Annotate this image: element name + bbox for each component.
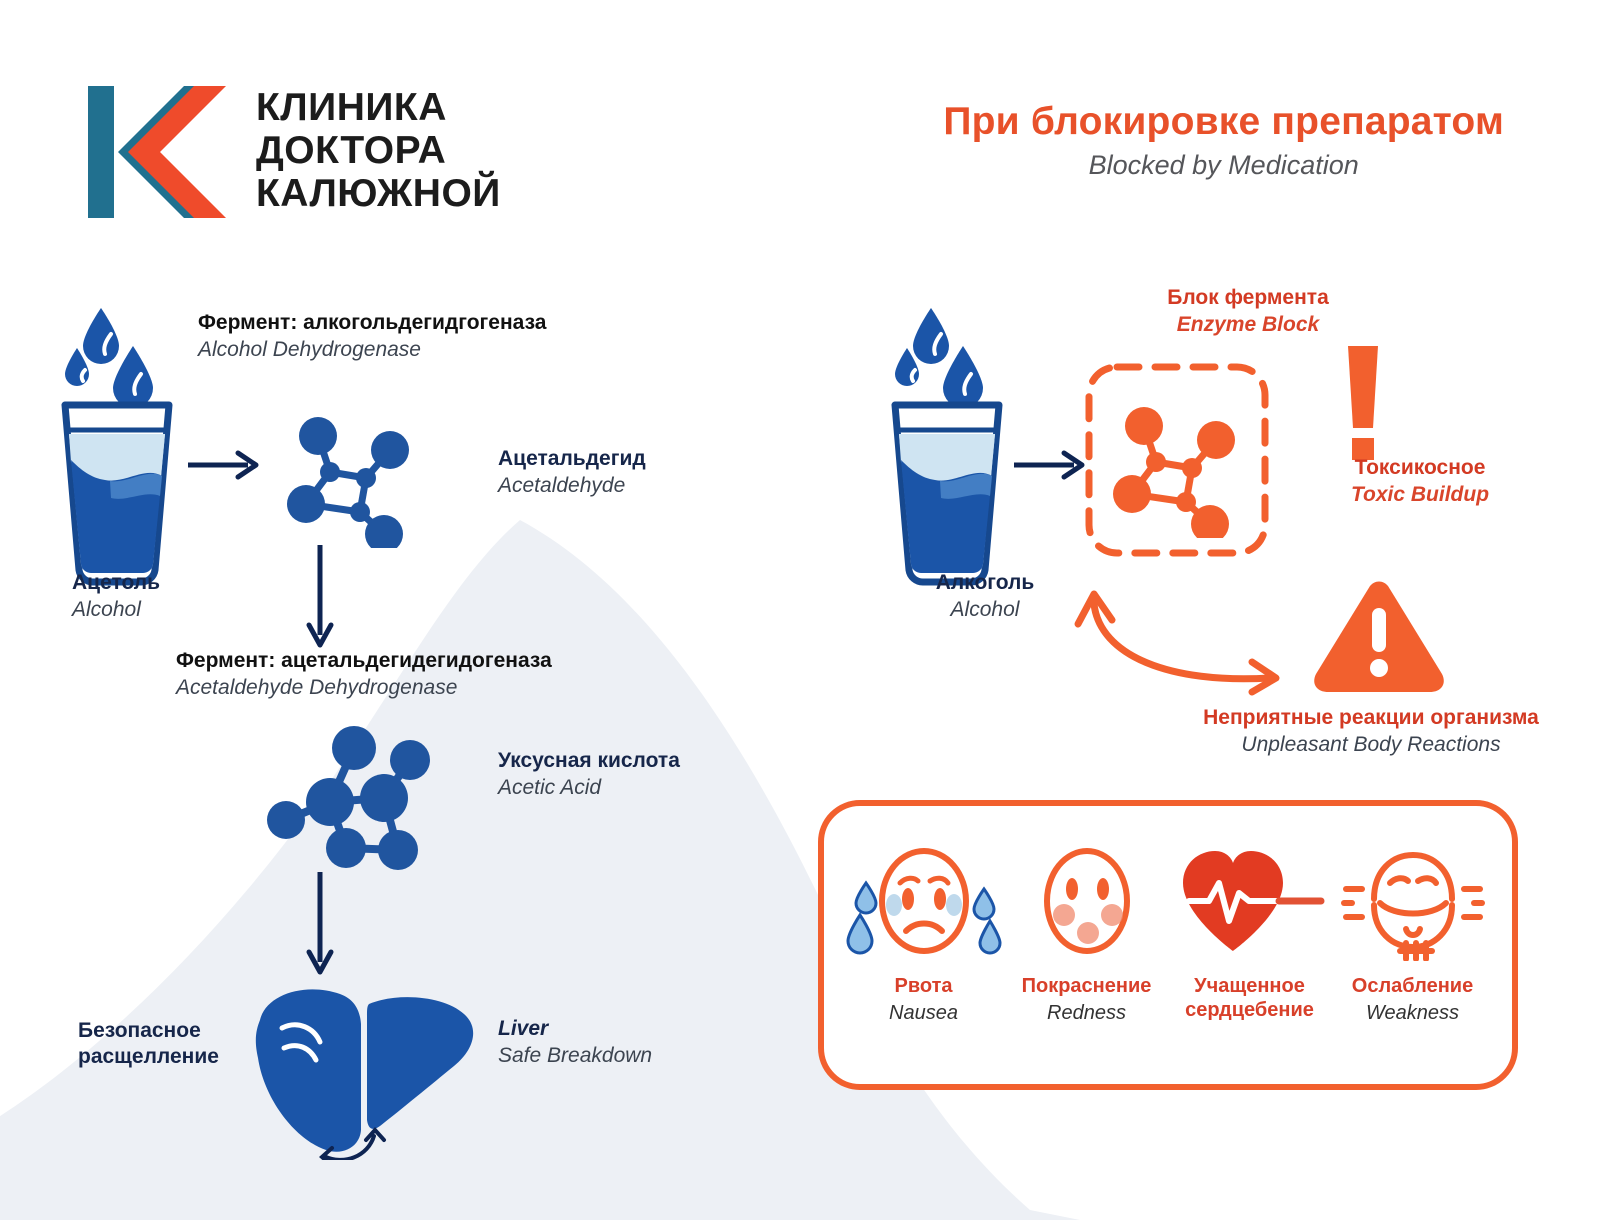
enzyme-2-label-en: Acetaldehyde Dehydrogenase [176, 674, 552, 701]
arrow-down-icon-2 [300, 872, 340, 982]
unpleasant-reactions-label-en: Unpleasant Body Reactions [1186, 731, 1556, 758]
flushed-face-icon [1007, 842, 1167, 962]
enzyme-2-label-ru: Фермент: ацетальдегидегидогеназа [176, 648, 552, 674]
unpleasant-reactions-label-ru: Неприятные реакции организма [1186, 705, 1556, 731]
curved-double-arrow-icon [1060, 568, 1300, 698]
alcohol-label-right-ru: Алкоголь [890, 570, 1080, 596]
safe-breakdown-label-en: Safe Breakdown [498, 1042, 652, 1069]
toxic-buildup-label-ru: Токсикосное [1300, 455, 1540, 481]
symptom-label-ru-2: Учащенное сердцебение [1170, 974, 1330, 1022]
liver-label: Liver Safe Breakdown [498, 1015, 652, 1070]
arrow-down-icon-1 [300, 545, 340, 655]
alcohol-label-right-en: Alcohol [890, 596, 1080, 623]
logo-wordmark: КЛИНИКА ДОКТОРА КАЛЮЖНОЙ [256, 88, 501, 217]
arrow-right-icon-1 [186, 445, 266, 485]
alcohol-label-left: Ацетоль Alcohol [72, 570, 160, 624]
alcohol-glass-icon-right [885, 300, 1010, 600]
alcohol-label-left-en: Alcohol [72, 596, 160, 623]
page-title-ru: При блокировке препаратом [943, 100, 1504, 144]
acetic-acid-label: Уксусная кислота Acetic Acid [498, 748, 680, 802]
liver-label-en: Liver [498, 1015, 652, 1042]
acetaldehyde-molecule-icon [278, 408, 418, 548]
symptom-item-redness: Покраснение Redness [1007, 842, 1167, 1025]
acetic-acid-molecule-icon [258, 722, 438, 872]
warning-triangle-icon [1310, 578, 1448, 698]
exclamation-mark-icon [1332, 344, 1392, 464]
toxic-buildup-label: Токсикосное Toxic Buildup [1300, 455, 1540, 509]
acetic-acid-label-en: Acetic Acid [498, 774, 680, 801]
arrow-right-icon-2 [1012, 445, 1092, 485]
unpleasant-reactions-label: Неприятные реакции организма Unpleasant … [1186, 705, 1556, 759]
symptom-label-en-1: Redness [1007, 1002, 1167, 1025]
enzyme-1-label-en: Alcohol Dehydrogenase [198, 336, 546, 363]
symptom-item-tachycardia: Учащенное сердцебение [1170, 842, 1330, 1026]
enzyme-2-label: Фермент: ацетальдегидегидогеназа Acetald… [176, 648, 552, 702]
enzyme-block-label: Блок фермента Enzyme Block [1098, 285, 1398, 339]
logo-mark-icon [84, 78, 234, 226]
sad-sweating-face-icon [844, 842, 1004, 962]
logo-line-1: КЛИНИКА [256, 88, 501, 127]
symptoms-panel: Рвота Nausea Покраснение Redness [818, 800, 1518, 1090]
enzyme-1-label: Фермент: алкогольдегидгогеназа Alcohol D… [198, 310, 546, 364]
enzyme-1-label-ru: Фермент: алкогольдегидгогеназа [198, 310, 546, 336]
acetaldehyde-label-ru: Ацетальдегид [498, 446, 646, 472]
symptom-label-ru-0: Рвота [844, 974, 1004, 998]
page-title-en: Blocked by Medication [943, 150, 1504, 181]
brand-logo: КЛИНИКА ДОКТОРА КАЛЮЖНОЙ [84, 78, 501, 226]
dizzy-face-icon [1333, 842, 1493, 962]
liver-icon [248, 980, 488, 1160]
acetaldehyde-label-en: Acetaldehyde [498, 472, 646, 499]
symptom-label-en-0: Nausea [844, 1002, 1004, 1025]
alcohol-glass-icon-left [55, 300, 180, 600]
infographic-canvas: КЛИНИКА ДОКТОРА КАЛЮЖНОЙ При блокировке … [0, 0, 1600, 1200]
symptom-item-weakness: Ослабление Weakness [1333, 842, 1493, 1025]
toxic-buildup-label-en: Toxic Buildup [1300, 481, 1540, 508]
acetic-acid-label-ru: Уксусная кислота [498, 748, 680, 774]
safe-breakdown-label-ru-block: Безопасное расщелление [78, 1018, 258, 1071]
symptom-label-ru-1: Покраснение [1007, 974, 1167, 998]
safe-breakdown-label-ru: Безопасное расщелление [78, 1018, 258, 1071]
logo-line-2: ДОКТОРА [256, 131, 501, 170]
page-title-block: При блокировке препаратом Blocked by Med… [943, 100, 1504, 181]
acetaldehyde-label: Ацетальдегид Acetaldehyde [498, 446, 646, 500]
symptom-item-nausea: Рвота Nausea [844, 842, 1004, 1025]
heart-pulse-icon [1170, 842, 1330, 962]
symptom-label-en-3: Weakness [1333, 1002, 1493, 1025]
enzyme-block-label-en: Enzyme Block [1098, 311, 1398, 338]
alcohol-label-right: Алкоголь Alcohol [890, 570, 1080, 624]
symptom-label-ru-3: Ослабление [1333, 974, 1493, 998]
enzyme-block-label-ru: Блок фермента [1098, 285, 1398, 311]
alcohol-label-left-ru: Ацетоль [72, 570, 160, 596]
blocked-molecule-icon [1104, 398, 1244, 538]
logo-line-3: КАЛЮЖНОЙ [256, 174, 501, 213]
